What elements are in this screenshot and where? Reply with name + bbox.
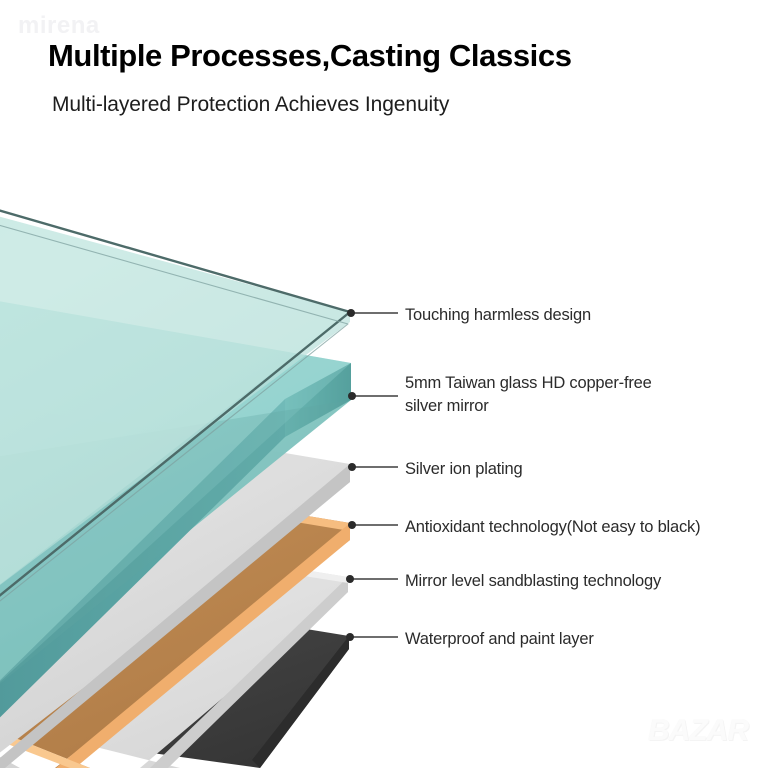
callout-label-taiwan-glass: 5mm Taiwan glass HD copper-free silver m… bbox=[405, 372, 652, 418]
layer-stack-diagram bbox=[0, 0, 768, 768]
callout-label-antioxidant-technology: Antioxidant technology(Not easy to black… bbox=[405, 516, 700, 539]
callout-label-waterproof-paint-layer: Waterproof and paint layer bbox=[405, 628, 594, 651]
callout-label-mirror-level-sandblasting: Mirror level sandblasting technology bbox=[405, 570, 661, 593]
callout-leader-lines bbox=[350, 313, 398, 637]
callout-label-touching-harmless-design: Touching harmless design bbox=[405, 304, 591, 327]
anchor-dot-taiwan-glass bbox=[348, 392, 356, 400]
diagram-page: mirena Multiple Processes,Casting Classi… bbox=[0, 0, 768, 768]
watermark-bazar: BAZAR bbox=[648, 714, 748, 748]
anchor-dot-waterproof-paint-layer bbox=[346, 633, 354, 641]
anchor-dot-antioxidant-technology bbox=[348, 521, 356, 529]
anchor-dot-mirror-level-sandblasting bbox=[346, 575, 354, 583]
anchor-dot-silver-ion-plating bbox=[348, 463, 356, 471]
callout-label-silver-ion-plating: Silver ion plating bbox=[405, 458, 522, 481]
anchor-dot-touching-harmless-design bbox=[347, 309, 355, 317]
